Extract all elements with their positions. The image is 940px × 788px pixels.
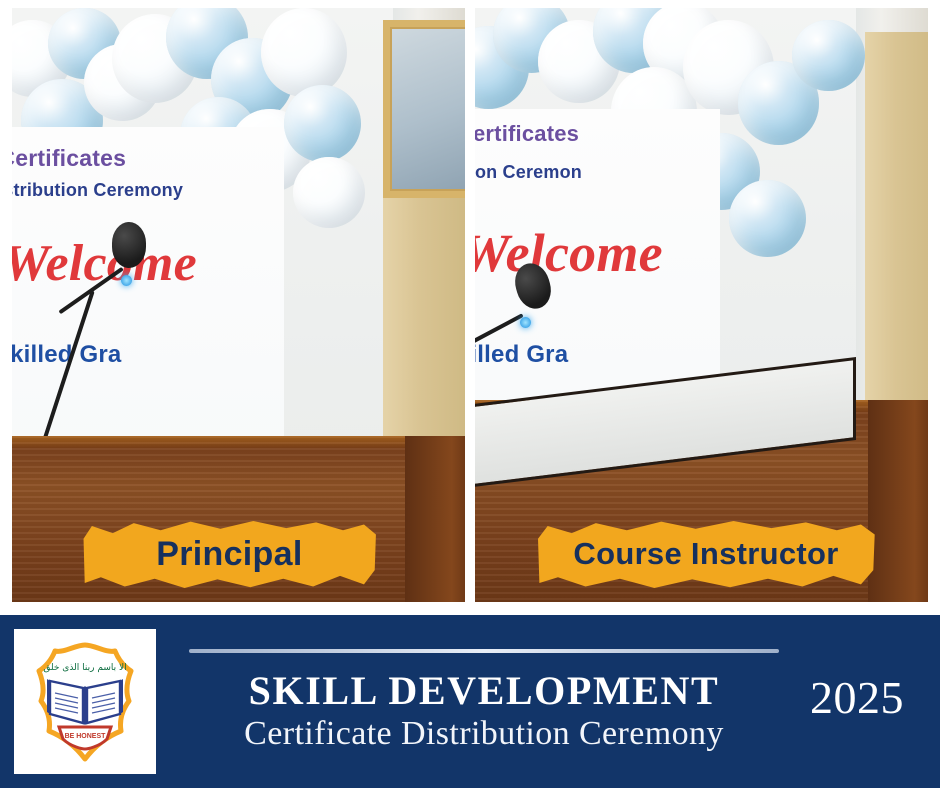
logo-box[interactable]: الا باسم ربنا الذى خلق BE HONEST — [14, 629, 156, 774]
photo-course-instructor[interactable]: Certificates ution Ceremon Welcome kille… — [475, 8, 928, 602]
mic-head — [510, 260, 555, 314]
mic-led-icon — [121, 275, 132, 286]
mic-stem — [42, 290, 95, 444]
ribbon-course-instructor[interactable]: Course Instructor — [534, 519, 878, 590]
ribbon-principal[interactable]: Principal — [80, 519, 379, 590]
footer-bar: الا باسم ربنا الذى خلق BE HONEST — [0, 615, 940, 788]
page-title: SKILL DEVELOPMENT — [249, 671, 720, 712]
mic-led-icon — [520, 317, 531, 328]
mic-stem — [475, 313, 524, 356]
svg-text:BE HONEST: BE HONEST — [65, 733, 107, 740]
photo-row: Certificates Distribution Ceremony Welco… — [0, 0, 940, 606]
ribbon-label: Course Instructor — [573, 536, 838, 572]
year-label: 2025 — [810, 671, 904, 724]
title-divider — [189, 649, 779, 653]
school-crest-logo: الا باسم ربنا الذى خلق BE HONEST — [29, 639, 141, 765]
podium-side — [405, 436, 465, 602]
footer-title-block: SKILL DEVELOPMENT Certificate Distributi… — [178, 615, 790, 788]
poster-canvas: Certificates Distribution Ceremony Welco… — [0, 0, 940, 788]
ribbon-label: Principal — [156, 535, 302, 574]
svg-text:الا باسم ربنا الذى خلق: الا باسم ربنا الذى خلق — [43, 663, 126, 673]
photo-principal[interactable]: Certificates Distribution Ceremony Welco… — [12, 8, 465, 602]
mic-stem — [58, 266, 124, 314]
page-subtitle: Certificate Distribution Ceremony — [244, 714, 724, 754]
mic-head — [112, 222, 146, 268]
